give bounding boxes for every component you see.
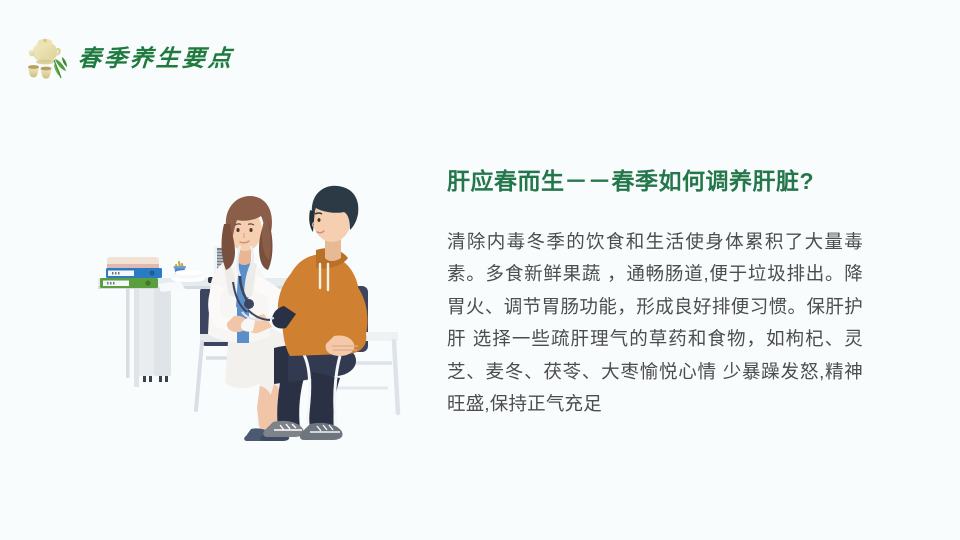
brand-title: 春季养生要点 [77,47,235,70]
book-stack [100,257,162,288]
content-block: 肝应春而生－－春季如何调养肝脏? 清除内毒冬季的饮食和生活使身体累积了大量毒素。… [447,168,867,421]
teapot-icon [24,33,76,83]
slide-root: 春季养生要点 [0,0,960,540]
body-paragraph: 清除内毒冬季的饮食和生活使身体累积了大量毒素。多食新鲜果蔬 ，通畅肠道,便于垃圾… [447,226,863,421]
page-title: 肝应春而生－－春季如何调养肝脏? [447,168,867,196]
brand-logo: 春季养生要点 [24,30,284,86]
illustration-doctor-patient [88,158,428,443]
